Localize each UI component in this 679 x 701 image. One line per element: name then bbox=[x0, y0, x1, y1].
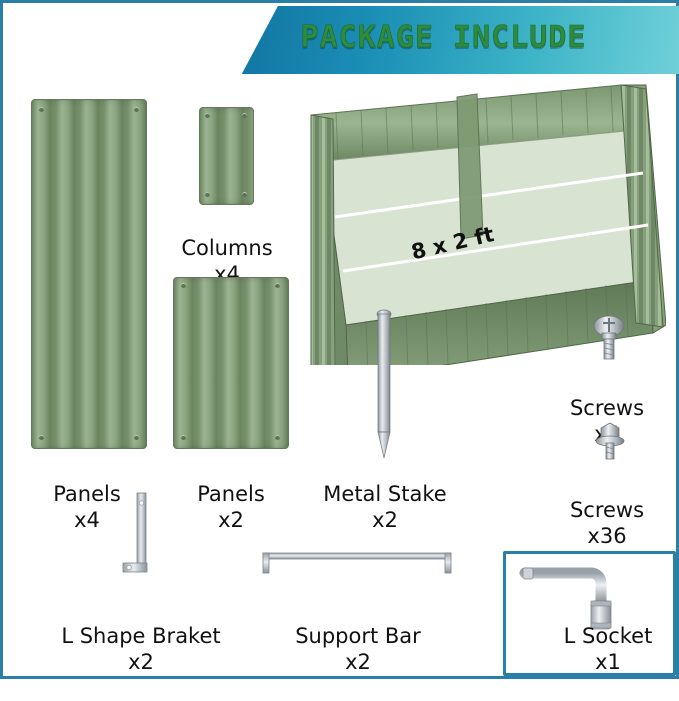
metal-stake-qty: x2 bbox=[303, 507, 467, 533]
l-socket-label: L Socket bbox=[564, 624, 653, 648]
support-bar-graphic bbox=[261, 551, 453, 575]
panels-short-graphic bbox=[173, 277, 289, 449]
metal-stake-svg bbox=[373, 308, 395, 458]
rivet bbox=[275, 283, 280, 288]
l-shape-braket-label: L Shape Braket bbox=[61, 624, 220, 648]
columns-graphic bbox=[199, 107, 254, 205]
metal-stake-label: Metal Stake bbox=[323, 482, 446, 506]
header-banner: PACKAGE INCLUDE bbox=[208, 6, 679, 74]
panels-tall-graphic bbox=[31, 99, 147, 449]
support-bar-label: Support Bar bbox=[295, 624, 421, 648]
rivet bbox=[39, 107, 44, 112]
screws-small-qty: x36 bbox=[533, 523, 679, 549]
rivet bbox=[39, 435, 44, 440]
support-bar-qty: x2 bbox=[265, 649, 451, 675]
support-bar-svg bbox=[261, 551, 453, 575]
rivet bbox=[181, 283, 186, 288]
screws-large-graphic bbox=[583, 313, 635, 361]
panels-short-qty: x2 bbox=[155, 507, 307, 533]
l-socket-qty: x1 bbox=[543, 649, 673, 675]
rivet bbox=[181, 435, 186, 440]
screws-small-graphic bbox=[586, 421, 634, 461]
l-shape-braket-label-block: L Shape Braket x2 bbox=[19, 597, 263, 701]
screws-large-label: Screws bbox=[570, 396, 644, 420]
panels-short-label: Panels bbox=[197, 482, 265, 506]
l-shape-braket-qty: x2 bbox=[19, 649, 263, 675]
l-bracket-svg bbox=[113, 491, 169, 587]
panels-short-label-block: Panels x2 bbox=[155, 455, 307, 559]
l-socket-label-block: L Socket x1 bbox=[543, 597, 673, 701]
rivet bbox=[275, 435, 280, 440]
screw-small-svg bbox=[586, 421, 634, 461]
screw-large-svg bbox=[583, 313, 635, 361]
rivet bbox=[205, 192, 210, 197]
l-shape-braket-graphic bbox=[113, 491, 169, 587]
screws-small-label: Screws bbox=[570, 498, 644, 522]
columns-label: Columns bbox=[181, 236, 272, 260]
rivet bbox=[205, 113, 210, 118]
page-title: PACKAGE INCLUDE bbox=[208, 20, 679, 55]
rivet bbox=[242, 113, 247, 118]
rivet bbox=[134, 107, 139, 112]
rivet bbox=[242, 192, 247, 197]
support-bar-label-block: Support Bar x2 bbox=[265, 597, 451, 701]
package-include-poster: PACKAGE INCLUDE Panels x4 Columns x4 Pan… bbox=[0, 0, 679, 679]
rivet bbox=[134, 435, 139, 440]
metal-stake-label-block: Metal Stake x2 bbox=[303, 455, 467, 559]
panels-tall-label: Panels bbox=[53, 482, 121, 506]
metal-stake-graphic bbox=[373, 308, 395, 458]
